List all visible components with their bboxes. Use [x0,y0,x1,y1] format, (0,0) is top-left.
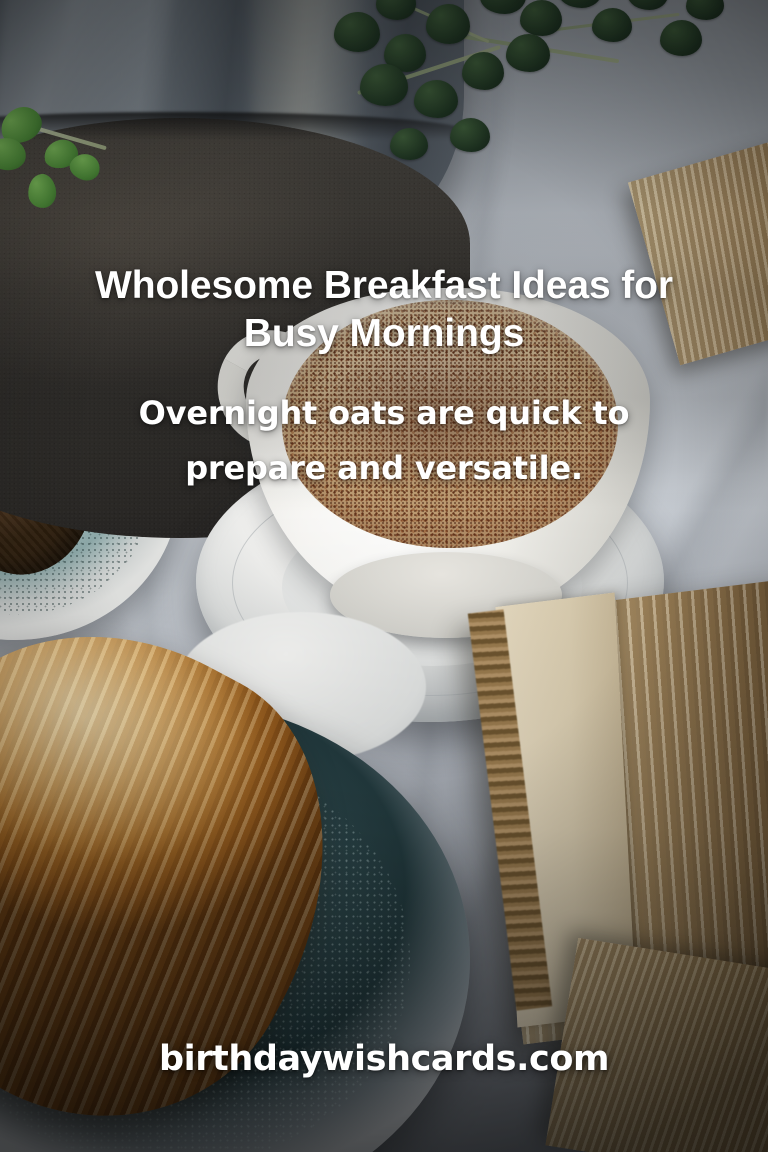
headline-line-2: Busy Mornings [20,310,748,358]
headline-line-1: Wholesome Breakfast Ideas for [20,262,748,310]
subhead-line-2: prepare and versatile. [120,441,648,496]
subhead-line-1: Overnight oats are quick to [120,386,648,441]
site-watermark[interactable]: birthdaywishcards.com [0,1039,768,1079]
page-subtitle: Overnight oats are quick to prepare and … [120,386,648,496]
text-overlay: Wholesome Breakfast Ideas for Busy Morni… [0,0,768,1152]
page-title: Wholesome Breakfast Ideas for Busy Morni… [20,262,748,358]
pinterest-pin-card: Wholesome Breakfast Ideas for Busy Morni… [0,0,768,1152]
